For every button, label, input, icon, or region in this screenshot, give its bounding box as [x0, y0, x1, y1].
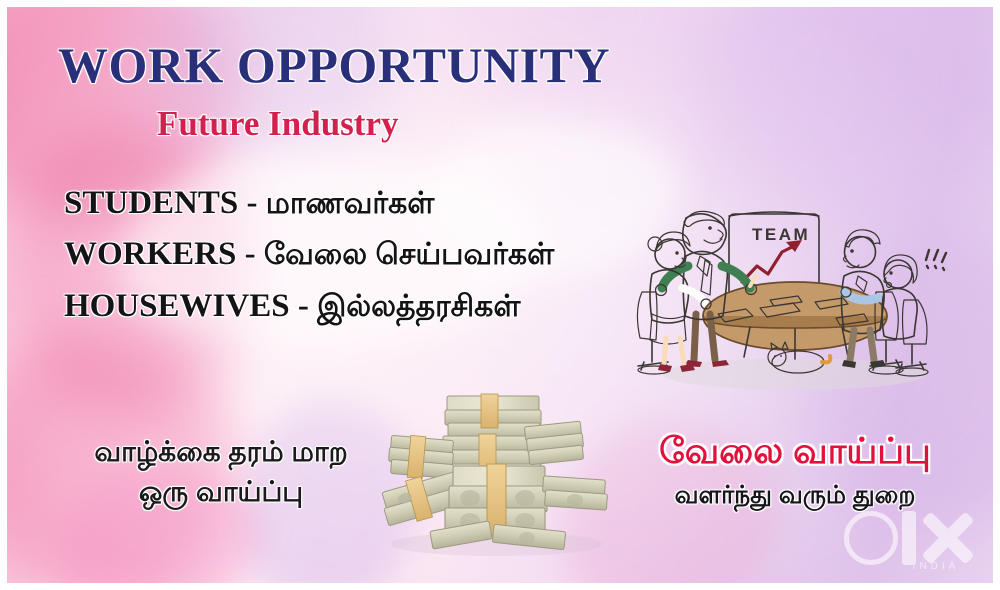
flipchart-top-label: TEAM: [752, 225, 810, 244]
attendee-left-figure: [637, 232, 711, 374]
attendee-far-right-figure: [882, 250, 946, 376]
tagline-line-2: ஒரு வாய்ப்பு: [56, 472, 386, 512]
role-english: WORKERS -: [64, 236, 256, 272]
money-stacks-image: [375, 378, 620, 558]
list-item: HOUSEWIVES - இல்லத்தரசிகள்: [64, 281, 554, 332]
tagline: வாழ்க்கை தரம் மாற ஒரு வாய்ப்பு: [56, 432, 386, 512]
money-stack: [543, 476, 608, 510]
role-tamil: வேலை செய்பவர்கள்: [264, 238, 554, 271]
cta-block: வேலை வாய்ப்பு வளர்ந்து வரும் துறை: [630, 430, 960, 513]
money-stack: [389, 435, 454, 478]
role-tamil: மாணவர்கள்: [266, 187, 435, 220]
team-meeting-illustration: .ln{fill:none;stroke:#3a3632;stroke-widt…: [630, 196, 960, 396]
tagline-line-1: வாழ்க்கை தரம் மாற: [56, 432, 386, 472]
page-title: WORK OPPORTUNITY: [58, 36, 610, 94]
role-english: STUDENTS -: [64, 185, 257, 221]
cta-subtext: வளர்ந்து வரும் துறை: [630, 481, 960, 513]
role-english: HOUSEWIVES -: [64, 288, 309, 324]
list-item: STUDENTS - மாணவர்கள்: [64, 178, 554, 229]
role-tamil: இல்லத்தரசிகள்: [317, 290, 520, 323]
page-subtitle: Future Industry: [157, 104, 398, 144]
money-stack: [524, 421, 583, 465]
work-opportunity-poster: WORK OPPORTUNITY Future Industry STUDENT…: [0, 0, 1000, 590]
list-item: WORKERS - வேலை செய்பவர்கள்: [64, 229, 554, 280]
role-list: STUDENTS - மாணவர்கள் WORKERS - வேலை செய்…: [64, 178, 554, 332]
cta-headline: வேலை வாய்ப்பு: [630, 430, 960, 477]
